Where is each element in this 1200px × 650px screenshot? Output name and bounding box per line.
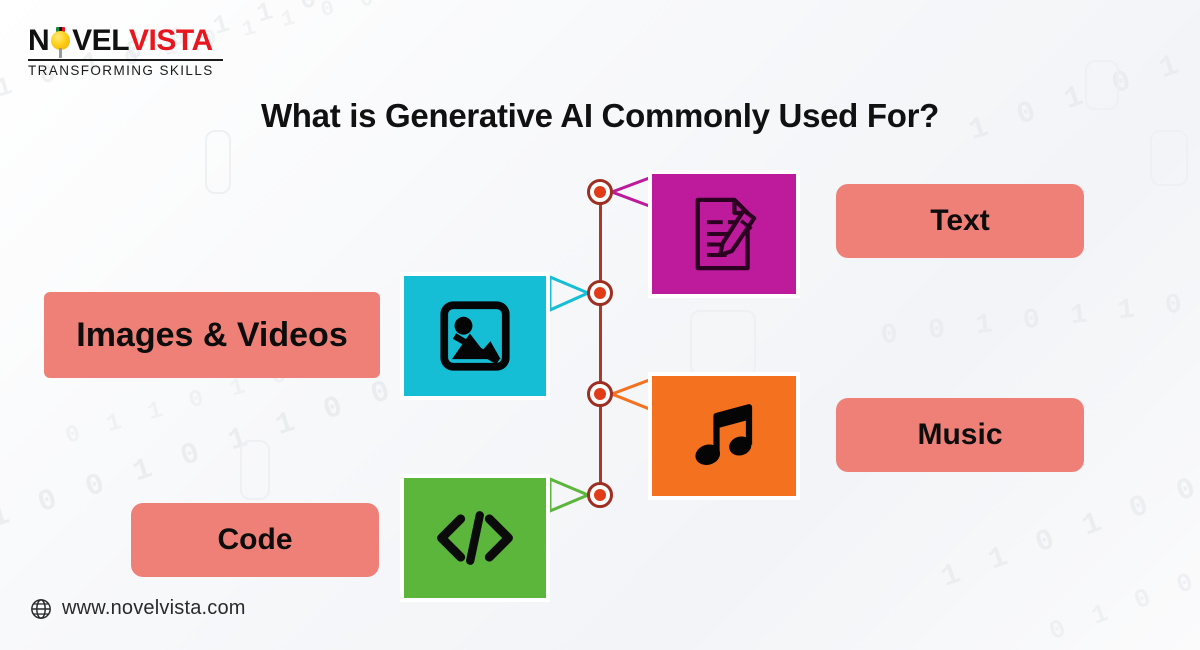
tile-music[interactable] [648,372,800,500]
footer[interactable]: www.novelvista.com [30,597,246,620]
tile-code[interactable] [400,474,550,602]
label-code[interactable]: Code [131,503,379,577]
globe-icon [30,598,52,620]
connector-text [612,177,652,207]
label-text-value: Text [930,204,989,238]
tile-text[interactable] [648,170,800,298]
label-text[interactable]: Text [836,184,1084,258]
label-music[interactable]: Music [836,398,1084,472]
footer-url[interactable]: www.novelvista.com [62,597,246,620]
tile-images-videos[interactable] [400,272,550,400]
label-code-value: Code [218,523,293,557]
code-brackets-icon [432,498,518,578]
node-code[interactable] [587,482,613,508]
connector-code [550,479,588,511]
tile-text-inner [648,170,800,298]
connector-images-videos [550,277,588,310]
label-music-value: Music [917,418,1002,452]
tile-images-videos-inner [400,272,550,400]
node-images-videos[interactable] [587,280,613,306]
music-note-icon [684,396,764,476]
tile-music-inner [648,372,800,500]
node-music[interactable] [587,381,613,407]
document-pencil-icon [682,192,766,276]
label-images-videos-value: Images & Videos [76,316,348,355]
label-images-videos[interactable]: Images & Videos [44,292,380,378]
image-picture-icon [434,295,516,377]
infographic-canvas: 1 0 1 0 0 1 1 0 0 1 0 1 1 0 0 1 0 1 0 0 … [0,0,1200,650]
node-text[interactable] [587,179,613,205]
tile-code-inner [400,474,550,602]
connector-music [612,379,652,410]
